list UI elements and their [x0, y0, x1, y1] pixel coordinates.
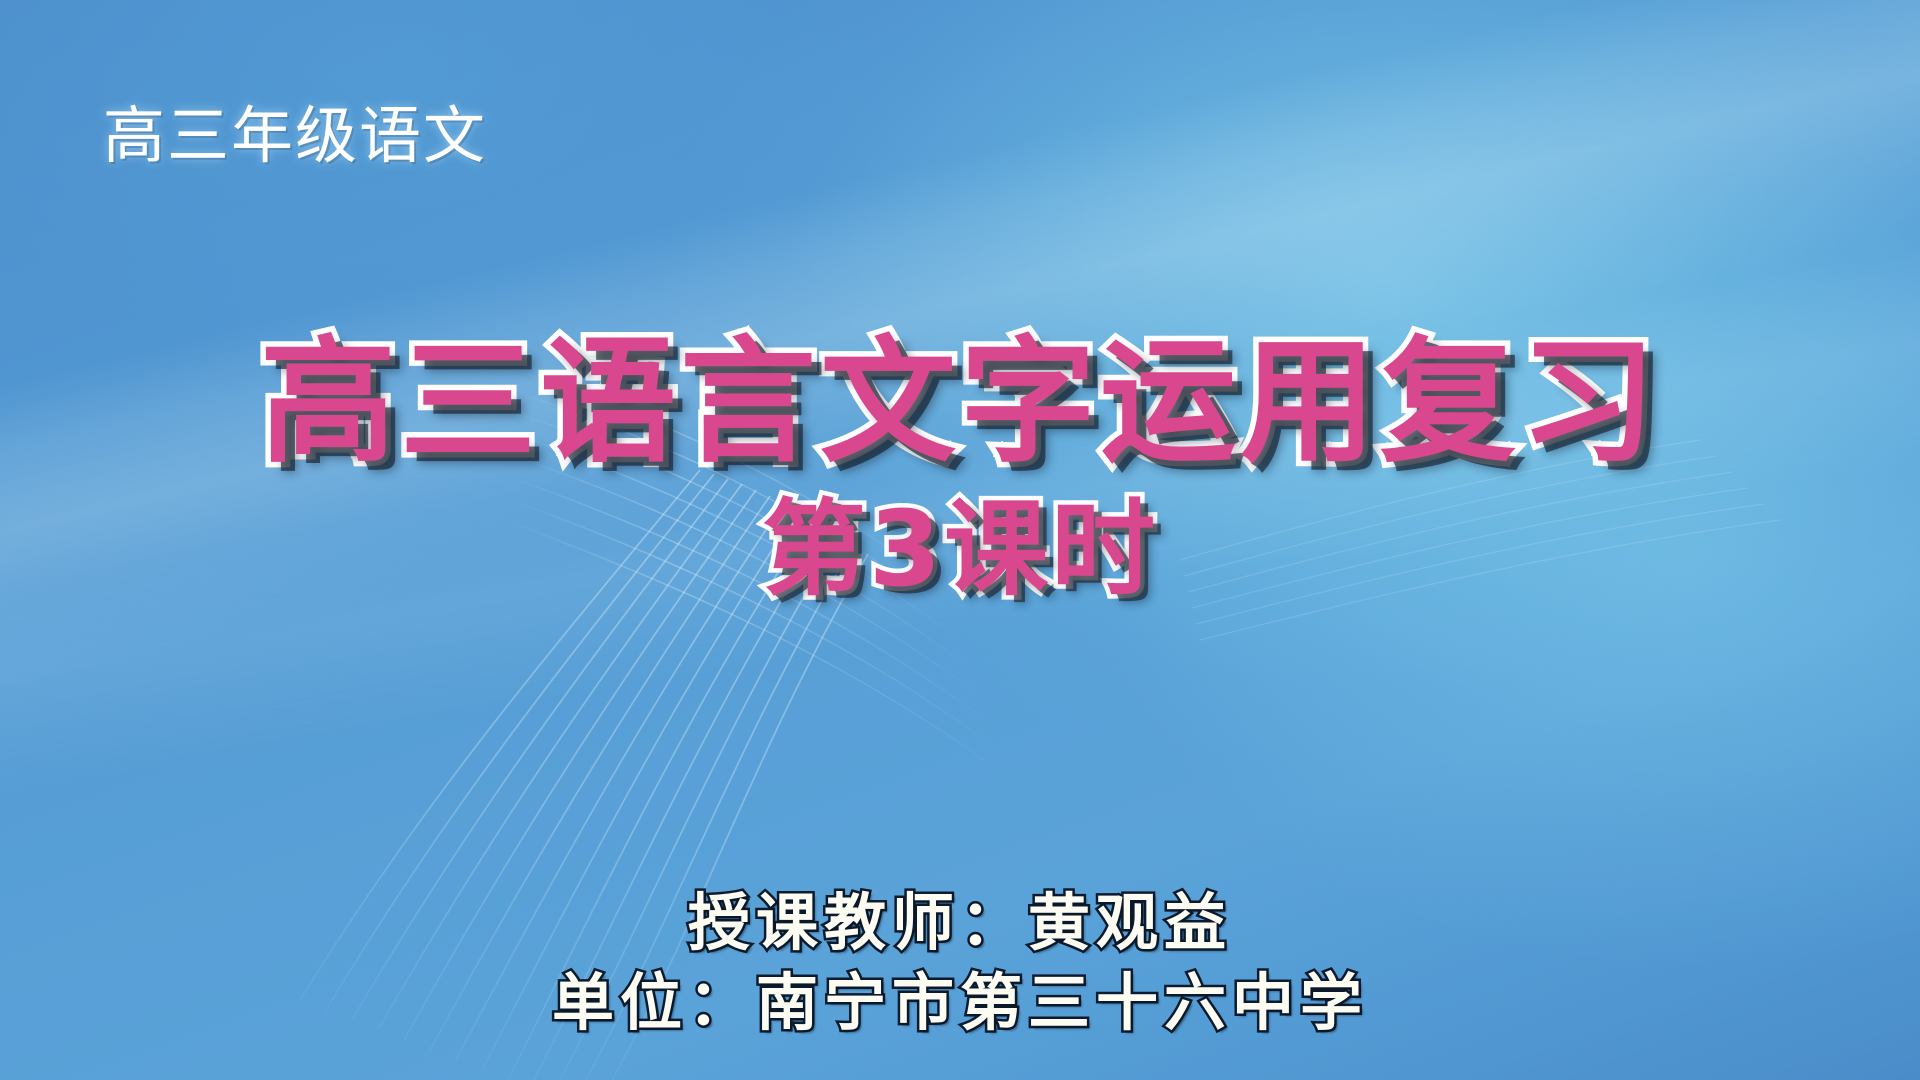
teacher-line: 授课教师：黄观益 — [0, 883, 1920, 964]
presentation-slide: 高三年级语文 高三语言文字运用复习 第3课时 授课教师：黄观益 单位：南宁市第三… — [0, 0, 1920, 1080]
course-label: 高三年级语文 — [103, 103, 487, 169]
title-block: 高三语言文字运用复习 第3课时 — [0, 335, 1920, 601]
school-line: 单位：南宁市第三十六中学 — [0, 963, 1920, 1044]
lesson-subtitle: 第3课时 — [0, 497, 1920, 601]
page-title: 高三语言文字运用复习 — [0, 335, 1920, 471]
credits-block: 授课教师：黄观益 单位：南宁市第三十六中学 — [0, 883, 1920, 1044]
